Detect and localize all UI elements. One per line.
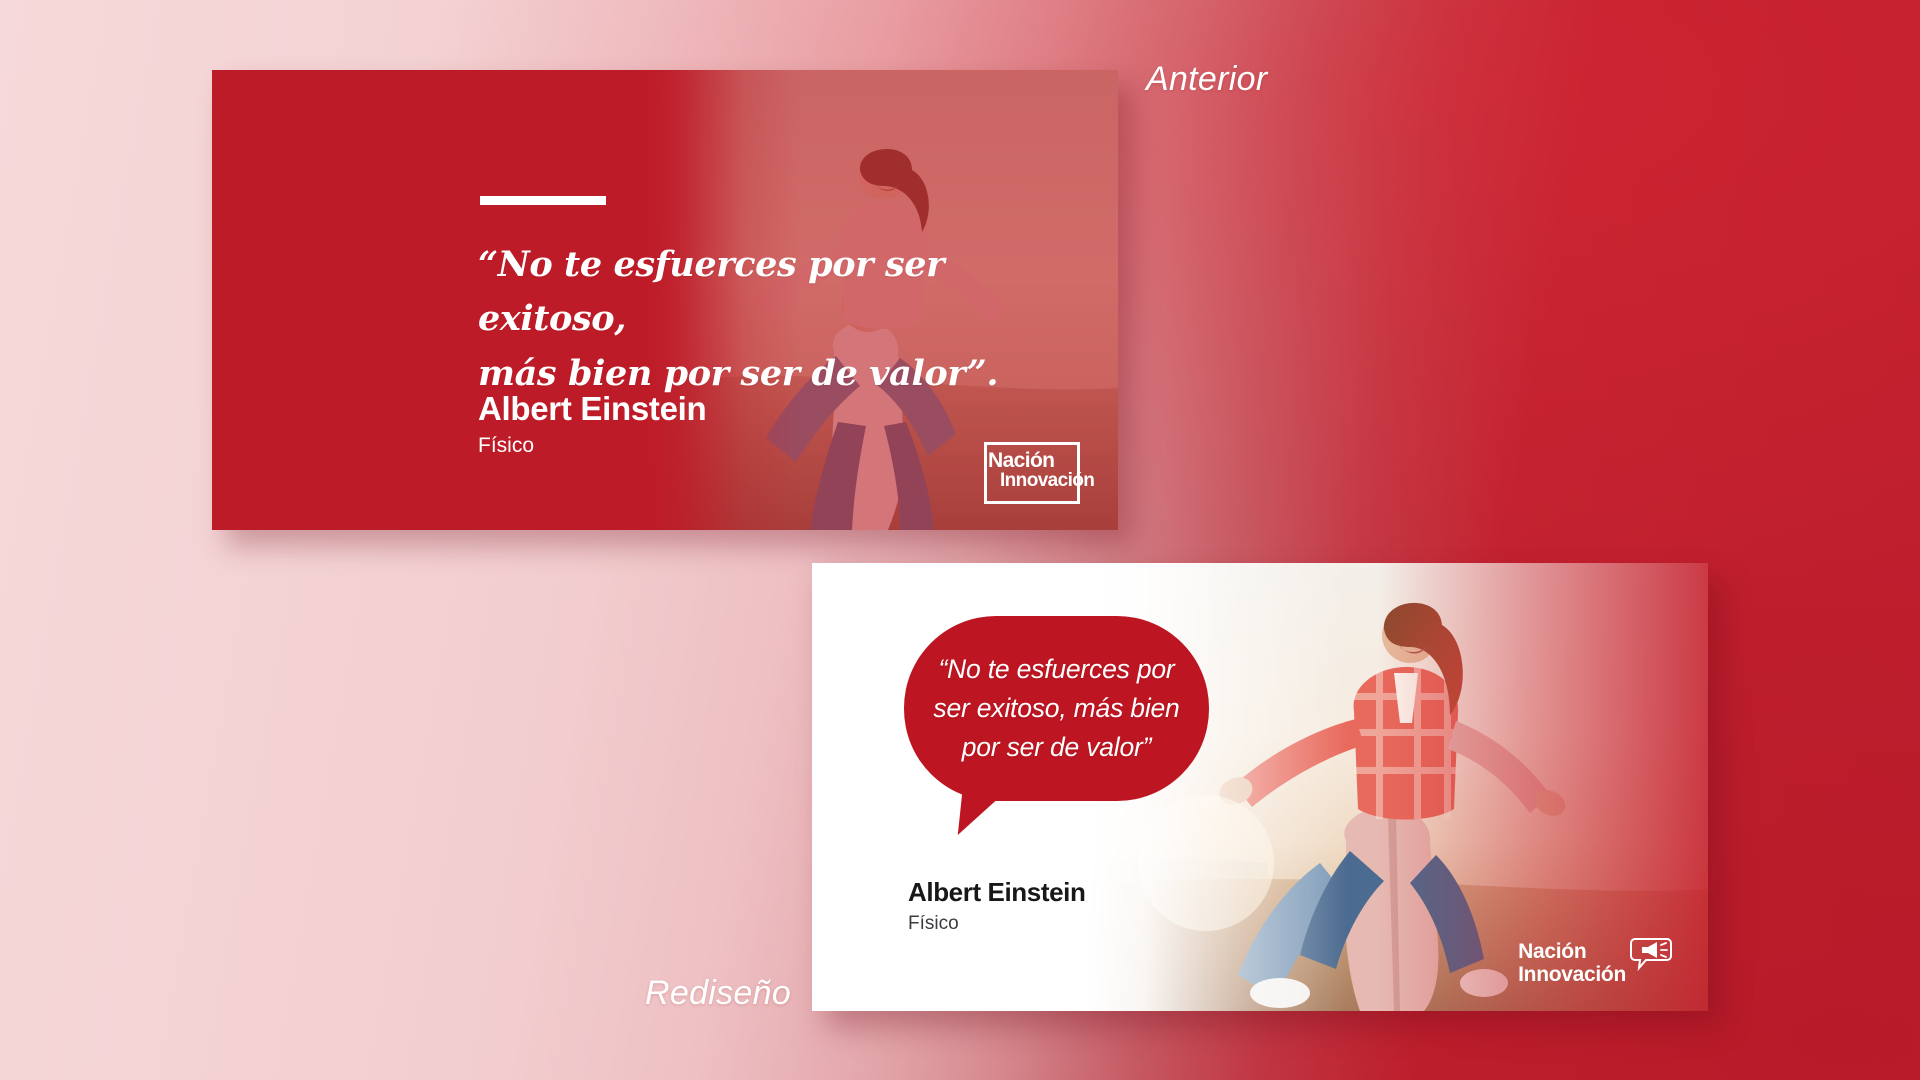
card-anterior-quote-line1: “No te esfuerces por ser exitoso, xyxy=(478,244,944,339)
quote-speech-bubble: “No te esfuerces por ser exitoso, más bi… xyxy=(904,616,1209,801)
logo-line1: Nación xyxy=(1518,940,1626,964)
logo-wordmark: Nación Innovación xyxy=(988,450,1078,491)
logo-wordmark: Nación Innovación xyxy=(1518,940,1626,987)
label-redisenio: Rediseño xyxy=(645,974,791,1013)
megaphone-speech-bubble-icon xyxy=(1630,936,1672,979)
card-redisenio-role: Físico xyxy=(908,913,959,935)
logo-nacion-innovacion-boxed[interactable]: Nación Innovación xyxy=(984,442,1080,504)
label-anterior: Anterior xyxy=(1146,60,1267,99)
logo-line1: Nación xyxy=(988,450,1078,471)
card-anterior-quote-line2: más bien por ser de valor”. xyxy=(478,353,998,394)
card-redisenio-quote-line3: por ser de valor” xyxy=(962,732,1152,762)
card-anterior-role: Físico xyxy=(478,434,534,458)
card-redisenio-author: Albert Einstein xyxy=(908,877,1085,908)
card-redisenio[interactable]: “No te esfuerces por ser exitoso, más bi… xyxy=(812,563,1708,1011)
speech-bubble-tail xyxy=(958,793,1004,835)
logo-line2: Innovación xyxy=(1000,471,1078,490)
card-redisenio-quote-line1: “No te esfuerces por xyxy=(938,654,1174,684)
card-redisenio-quote: “No te esfuerces por ser exitoso, más bi… xyxy=(904,616,1209,801)
card-redisenio-quote-line2: ser exitoso, más bien xyxy=(933,693,1179,723)
card-anterior-quote: “No te esfuerces por ser exitoso, más bi… xyxy=(478,238,1038,401)
card-anterior-author: Albert Einstein xyxy=(478,390,706,428)
accent-rule xyxy=(480,196,606,205)
card-anterior[interactable]: “No te esfuerces por ser exitoso, más bi… xyxy=(212,70,1118,530)
logo-nacion-innovacion[interactable]: Nación Innovación xyxy=(1518,940,1672,987)
logo-line2: Innovación xyxy=(1518,963,1626,987)
